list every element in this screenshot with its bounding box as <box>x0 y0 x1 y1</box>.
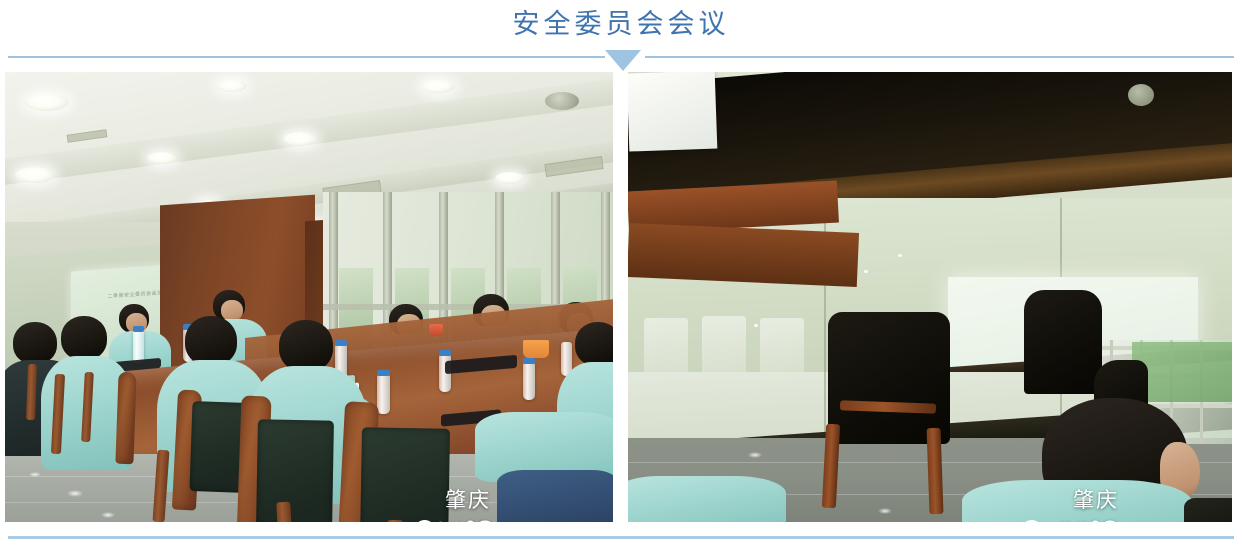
ceiling-speaker-icon <box>1128 84 1154 106</box>
page-header: 安全委员会会议 <box>0 0 1242 68</box>
triangle-down-icon <box>605 50 641 71</box>
cloud-icon <box>1016 520 1046 522</box>
watermark-temperature: 26℃ <box>1058 516 1119 522</box>
chair-leg <box>276 502 292 522</box>
light-reflection <box>864 270 868 273</box>
chair <box>1024 290 1102 394</box>
header-divider-left <box>8 56 605 58</box>
water-bottle <box>377 374 390 414</box>
chair <box>828 312 950 444</box>
footer-divider <box>8 536 1234 539</box>
orange-cup <box>523 340 549 358</box>
foreground-desk <box>628 223 859 287</box>
floor-reflection <box>101 512 115 518</box>
watermark-city: 肇庆 <box>445 484 491 514</box>
chair <box>115 372 136 465</box>
person-foreground-left <box>628 458 786 522</box>
floor-reflection <box>67 490 83 497</box>
bottle-cap <box>439 350 451 356</box>
header-divider-right <box>645 56 1234 58</box>
floor-reflection <box>29 472 41 477</box>
orange-cup <box>429 324 443 336</box>
chair-seat <box>256 419 334 522</box>
photo-left[interactable]: 二季度安全委员会会议 <box>5 72 613 522</box>
watermark-temperature: 26℃ <box>433 516 494 522</box>
light-reflection <box>754 324 758 327</box>
ceiling-light <box>283 132 317 146</box>
bottle-cap <box>133 326 144 332</box>
ceiling-light <box>495 172 525 184</box>
chair-leg <box>387 520 403 522</box>
ceiling-vent-icon <box>545 92 579 110</box>
water-bottle <box>523 362 535 400</box>
photo-right[interactable]: 广东中亚铝业有限公司 二季度安全委员会会议 2020.06.02 <box>628 72 1232 522</box>
floor-reflection <box>878 508 892 514</box>
ceiling-light <box>15 167 55 183</box>
chair-leg <box>927 428 944 514</box>
page-root: 安全委员会会议 二季度安全委员会会议 <box>0 0 1242 547</box>
ceiling-light <box>25 94 69 111</box>
person-foreground <box>1008 402 1232 522</box>
ceiling-light <box>421 80 455 93</box>
bottle-cap <box>377 370 390 376</box>
panel-seam <box>824 198 826 398</box>
ceiling-light <box>147 152 177 164</box>
watermark-city: 肇庆 <box>1073 484 1119 514</box>
chair-seat <box>360 427 450 522</box>
light-reflection <box>898 254 902 257</box>
ceiling-light <box>217 80 247 92</box>
page-title: 安全委员会会议 <box>0 6 1242 42</box>
person-near-foreground <box>475 412 613 522</box>
whiteboard <box>628 72 717 152</box>
bottle-cap <box>523 358 535 364</box>
